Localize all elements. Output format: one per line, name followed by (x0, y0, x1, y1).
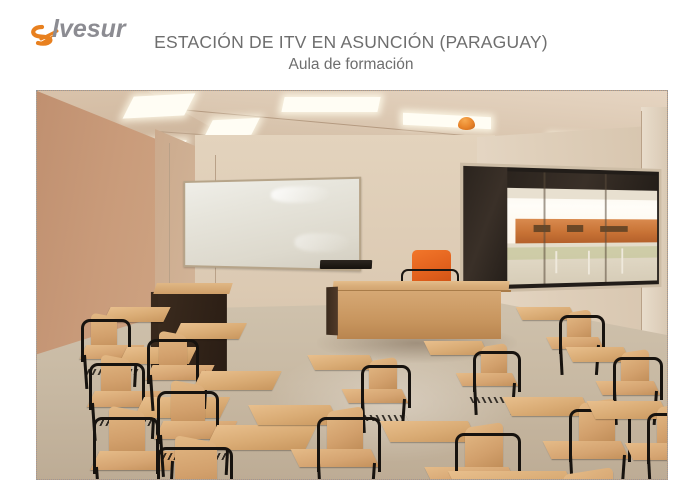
window-frame (463, 166, 659, 290)
whiteboard (183, 177, 361, 272)
exterior-post (621, 248, 623, 273)
window-glass (507, 171, 657, 284)
exterior-post (555, 251, 557, 273)
slide: lvesur ESTACIÓN DE ITV EN ASUNCIÓN (PARA… (0, 0, 700, 500)
photo-frame[interactable] (36, 90, 668, 480)
exterior-window-opening (534, 225, 551, 232)
title-block: ESTACIÓN DE ITV EN ASUNCIÓN (PARAGUAY) A… (36, 32, 666, 76)
side-cabinet-top (153, 283, 233, 294)
exterior-roof (507, 188, 657, 201)
teacher-desk-front (337, 291, 501, 339)
exterior-window-opening (567, 225, 583, 232)
amber-ceiling-dome-icon (458, 117, 475, 130)
window-mullion (544, 172, 545, 283)
ceiling-light-panel (281, 97, 380, 112)
whiteboard-marker-tray (320, 260, 372, 269)
exterior-post (588, 251, 590, 275)
teacher-desk-side (326, 287, 338, 336)
page-title: ESTACIÓN DE ITV EN ASUNCIÓN (PARAGUAY) (36, 32, 666, 54)
window-blind-dark (463, 166, 507, 290)
classroom-photo (37, 91, 667, 479)
page-subtitle: Aula de formación (36, 55, 666, 76)
window-mullion (605, 174, 606, 282)
ceiling-light-panel (123, 93, 196, 118)
exterior-grass (507, 246, 657, 260)
